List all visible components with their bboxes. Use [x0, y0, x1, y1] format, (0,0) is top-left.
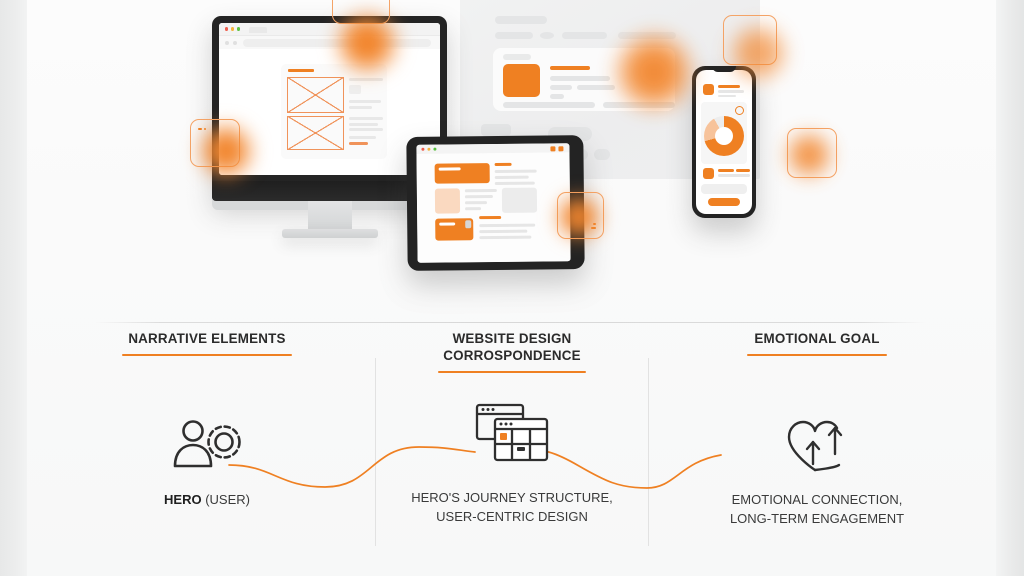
blur-blob-3 [612, 30, 696, 114]
right-margin-band [996, 0, 1024, 576]
window-minimize-dot [231, 27, 234, 30]
blur-blob-4 [727, 22, 789, 84]
column-caption: HERO (USER) [164, 490, 250, 509]
title-underline [747, 354, 887, 356]
three-column-section: NARRATIVE ELEMENTS HERO (USER) [27, 330, 996, 576]
tablet-content [416, 152, 570, 263]
smartphone-device [692, 66, 756, 218]
wireframe-card [281, 64, 387, 159]
screenshot-root: NARRATIVE ELEMENTS HERO (USER) [0, 0, 1024, 576]
browser-urlbar [219, 36, 440, 50]
column-caption: EMOTIONAL CONNECTION, LONG-TERM ENGAGEME… [679, 490, 955, 528]
column-title: EMOTIONAL GOAL [679, 330, 955, 347]
blur-blob-5 [555, 193, 603, 241]
tablet-screen [416, 143, 570, 263]
phone-notch [712, 66, 736, 72]
column-caption: HERO'S JOURNEY STRUCTURE, USER-CENTRIC D… [395, 488, 629, 526]
blur-blob-1 [334, 10, 400, 76]
monitor-stand [308, 201, 352, 231]
monitor-base [282, 229, 378, 238]
browser-windows-icon [473, 402, 551, 469]
window-close-dot [225, 27, 228, 30]
column-website-design-correspondence: WEBSITE DESIGN CORROSPONDENCE [395, 330, 629, 373]
content-sheet: NARRATIVE ELEMENTS HERO (USER) [27, 0, 996, 576]
column-narrative-elements: NARRATIVE ELEMENTS HERO (USER) [92, 330, 322, 356]
browser-titlebar [219, 23, 440, 36]
phone-screen [696, 70, 752, 214]
devices-illustration [27, 0, 996, 318]
column-title: NARRATIVE ELEMENTS [92, 330, 322, 347]
horizontal-divider [95, 322, 925, 323]
column-emotional-goal: EMOTIONAL GOAL EMOTIONAL CONNECTION, LON… [679, 330, 955, 356]
user-gear-icon [170, 418, 244, 475]
phone-donut-chart [704, 116, 744, 156]
title-underline [122, 354, 292, 356]
column-title: WEBSITE DESIGN CORROSPONDENCE [395, 330, 629, 364]
blur-blob-2 [197, 122, 255, 180]
window-maximize-dot [237, 27, 240, 30]
phone-cta-button [708, 198, 740, 206]
heart-arrows-up-icon [783, 418, 851, 481]
blur-blob-6 [784, 130, 834, 180]
left-margin-band [0, 0, 27, 576]
title-underline [438, 371, 586, 373]
